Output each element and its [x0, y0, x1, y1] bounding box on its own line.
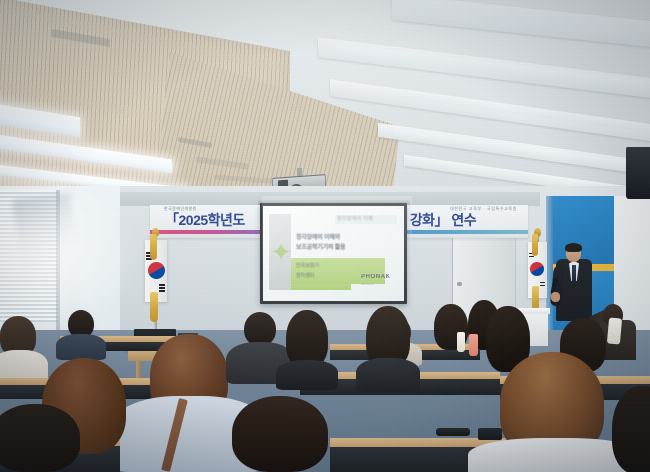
presenter-hand — [551, 292, 560, 302]
wall-panel-blue-right — [552, 196, 614, 264]
banner-title-left: 「2025학년도 — [165, 210, 245, 230]
tumbler-pink[interactable] — [469, 334, 478, 356]
seated-attendee-scarf — [607, 317, 622, 344]
thermos-white[interactable] — [457, 332, 465, 352]
attendee-hair-foreground — [0, 404, 80, 472]
attendee-shoulders — [356, 358, 420, 392]
window-shadow — [12, 192, 81, 285]
taeguk-symbol-left — [148, 262, 165, 279]
attendee-head — [244, 312, 276, 346]
slide-brand-logo: PHONAK — [361, 274, 391, 280]
presenter-hair — [565, 243, 582, 252]
projection-screen: ✦ 청각장애의 이해 청각장애의 이해와 보조공학기기의 활용 한국보청기 청각… — [263, 206, 404, 301]
flag-tassel-left — [150, 234, 157, 260]
slide-title-line2: 보조공학기기의 활용 — [296, 244, 396, 253]
slide-subtitle-line1: 한국보청기 — [296, 262, 366, 270]
seminar-room-photograph: 한국장애인개발원 대한민국 교육부 · 국립특수교육원 「2025학년도 량 강… — [0, 0, 650, 472]
trigram — [529, 256, 534, 257]
wall-speaker — [626, 147, 650, 199]
trigram — [540, 285, 545, 286]
trigram — [159, 284, 165, 286]
trigram — [159, 290, 165, 292]
attendee-hair-foreground — [232, 396, 328, 472]
slide-subtitle-line2: 청각센터 — [296, 272, 366, 280]
slide-brand-tagline: life is on — [361, 282, 374, 286]
trigram — [159, 287, 165, 289]
taeguk-symbol-right — [530, 262, 544, 276]
slide-header-text: 청각장애의 이해 — [337, 215, 373, 222]
presenter-tie — [572, 265, 576, 281]
flag-tassel-right — [532, 234, 538, 256]
desk-item[interactable] — [478, 428, 502, 440]
flag-tassel-left-lower — [150, 292, 158, 322]
attendee-shoulders — [276, 360, 338, 390]
door-knob[interactable] — [457, 282, 462, 286]
attendee-shoulders — [56, 334, 106, 360]
desk-item[interactable] — [436, 428, 470, 436]
trigram — [540, 282, 545, 283]
slide-title-line1: 청각장애의 이해와 — [296, 234, 396, 243]
